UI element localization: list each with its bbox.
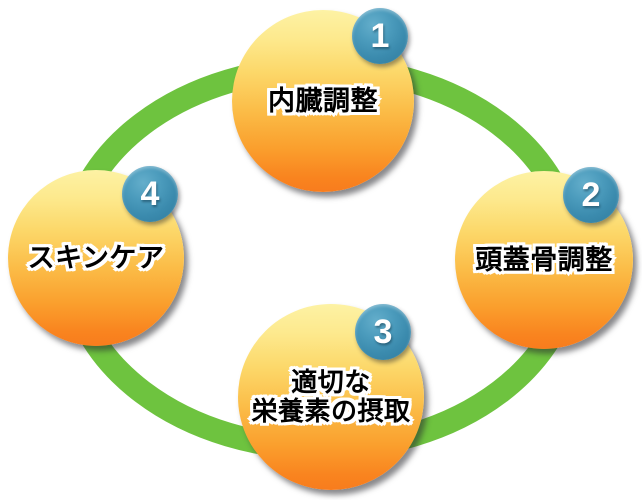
cycle-node-3-badge[interactable]: 3 bbox=[355, 304, 411, 360]
cycle-node-4-label: スキンケア bbox=[28, 243, 165, 273]
cycle-diagram: 内臓調整 1 頭蓋骨調整 2 適切な 栄養素の摂取 3 スキンケア 4 bbox=[0, 0, 642, 500]
cycle-node-1-label: 内臓調整 bbox=[268, 86, 378, 116]
cycle-node-1-number: 1 bbox=[371, 19, 390, 53]
cycle-node-2-label: 頭蓋骨調整 bbox=[475, 245, 613, 275]
cycle-node-4-badge[interactable]: 4 bbox=[122, 166, 178, 222]
cycle-node-2-badge[interactable]: 2 bbox=[563, 167, 619, 223]
cycle-node-4-number: 4 bbox=[141, 177, 160, 211]
cycle-node-3-number: 3 bbox=[374, 315, 393, 349]
cycle-node-2-number: 2 bbox=[582, 178, 601, 212]
cycle-node-1-badge[interactable]: 1 bbox=[352, 8, 408, 64]
cycle-node-3-label: 適切な 栄養素の摂取 bbox=[251, 368, 410, 426]
